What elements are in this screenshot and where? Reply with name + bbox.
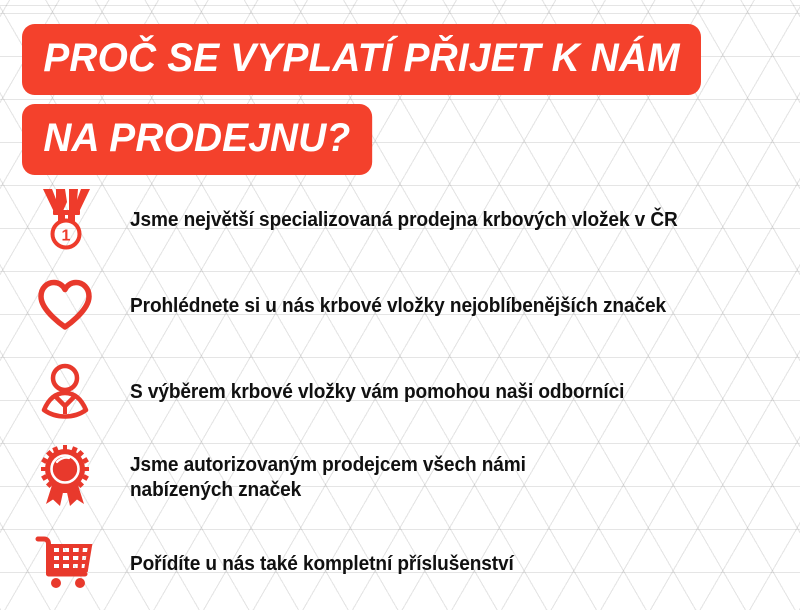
medal-rank-number: 1 <box>62 228 71 245</box>
medal-first-place-icon: 1 <box>0 188 130 250</box>
headline-badge-line1: PROČ SE VYPLATÍ PŘIJET K NÁM <box>22 24 701 95</box>
headline-badge-line2: NA PRODEJNU? <box>22 104 372 175</box>
benefits-list: 1 Jsme největší specializovaná prodejna … <box>0 176 800 606</box>
benefit-text: Pořídíte u nás také kompletní příslušens… <box>130 551 753 576</box>
benefit-text: S výběrem krbové vložky vám pomohou naši… <box>130 379 753 404</box>
person-advisor-icon <box>0 362 130 420</box>
promo-poster: PROČ SE VYPLATÍ PŘIJET K NÁM NA PRODEJNU… <box>0 0 800 610</box>
list-item: Prohlédnete si u nás krbové vložky nejob… <box>0 262 800 348</box>
benefit-text: Jsme autorizovaným prodejcem všech námi … <box>130 452 753 502</box>
list-item: Pořídíte u nás také kompletní příslušens… <box>0 520 800 606</box>
award-rosette-icon <box>0 444 130 510</box>
list-item: Jsme autorizovaným prodejcem všech námi … <box>0 434 800 520</box>
benefit-text: Prohlédnete si u nás krbové vložky nejob… <box>130 293 753 318</box>
list-item: S výběrem krbové vložky vám pomohou naši… <box>0 348 800 434</box>
list-item: 1 Jsme největší specializovaná prodejna … <box>0 176 800 262</box>
heart-icon <box>0 278 130 332</box>
shopping-cart-icon <box>0 536 130 590</box>
benefit-text: Jsme největší specializovaná prodejna kr… <box>130 207 753 232</box>
headline-block: PROČ SE VYPLATÍ PŘIJET K NÁM NA PRODEJNU… <box>22 24 722 175</box>
